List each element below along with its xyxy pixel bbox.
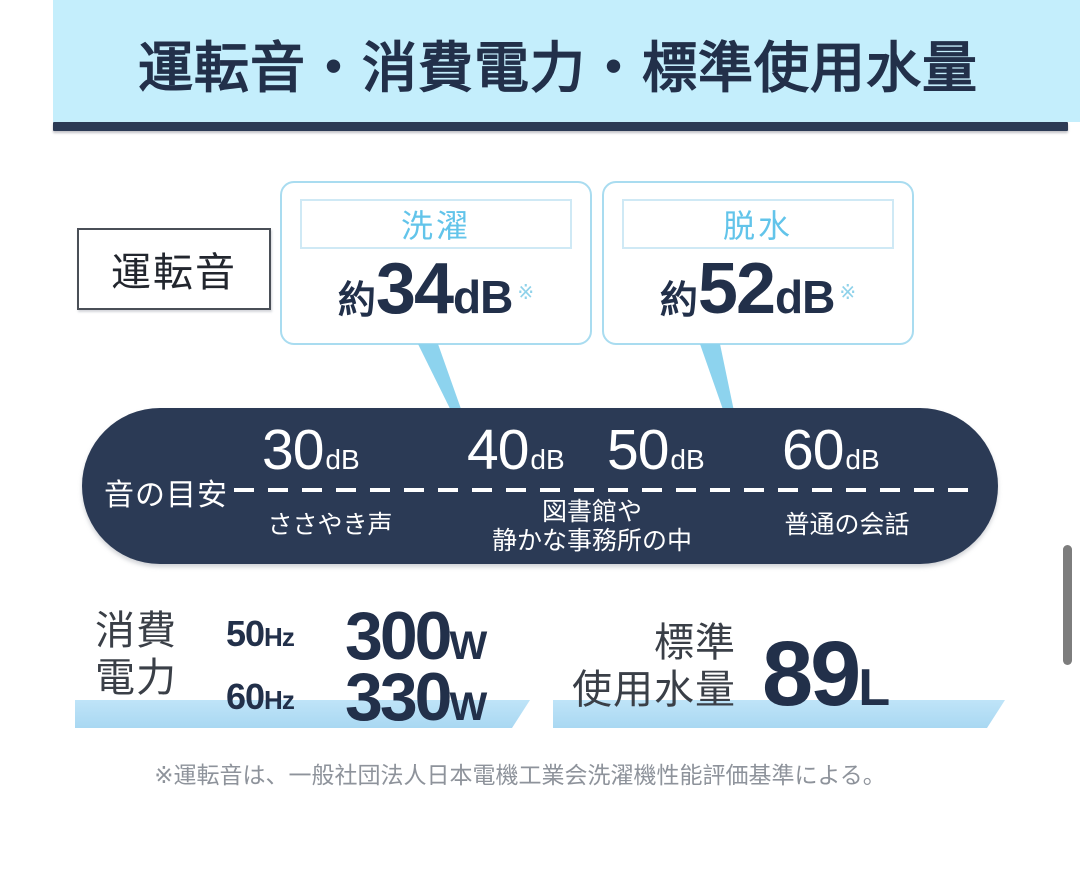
callout-spin: 脱水 約 52 dB ※ — [602, 181, 914, 345]
wash-asterisk-icon: ※ — [517, 280, 534, 305]
power-label: 消費 電力 — [95, 608, 177, 702]
scale-tick-50: 50 dB — [607, 422, 705, 479]
wash-db-number: 34 — [376, 253, 452, 325]
water-value-unit: L — [858, 659, 889, 717]
water-label: 標準 使用水量 — [572, 620, 736, 714]
scale-tick-30: 30 dB — [262, 422, 360, 479]
scale-tick-40-unit: dB — [530, 444, 564, 476]
sound-scale-pill: 音の目安 30 dB 40 dB 50 dB 60 dB ささやき声 図書館や … — [82, 408, 998, 564]
scale-tick-60: 60 dB — [782, 422, 880, 479]
power-label-line2: 電力 — [95, 655, 177, 702]
power-value-60hz-unit: W — [449, 685, 486, 729]
scale-tick-60-value: 60 — [782, 422, 843, 479]
power-freq-60hz: 60Hz — [226, 676, 294, 718]
scale-desc-conversation: 普通の会話 — [742, 511, 952, 540]
scale-tick-50-unit: dB — [670, 444, 704, 476]
infographic-page: 運転音・消費電力・標準使用水量 運転音 洗濯 約 34 dB ※ 脱水 約 52… — [0, 0, 1080, 881]
sound-scale-title: 音の目安 — [104, 470, 228, 514]
spin-db-unit: dB — [775, 270, 834, 324]
header-divider — [53, 122, 1068, 131]
scale-desc-library-line1: 図書館や — [452, 498, 732, 527]
scale-desc-whisper: ささやき声 — [230, 511, 430, 540]
water-value-number: 89 — [762, 623, 858, 725]
water-value: 89L — [762, 628, 889, 720]
callout-wash-mode: 洗濯 — [300, 199, 572, 249]
sound-scale-dashed-axis — [234, 488, 980, 492]
power-value-60hz: 330W — [345, 663, 486, 731]
scale-tick-60-unit: dB — [845, 444, 879, 476]
callout-spin-mode: 脱水 — [622, 199, 894, 249]
scrollbar-thumb[interactable] — [1063, 545, 1072, 665]
water-label-line2: 使用水量 — [572, 667, 736, 714]
page-title: 運転音・消費電力・標準使用水量 — [53, 22, 1063, 104]
power-freq-50hz: 50Hz — [226, 613, 294, 655]
callout-wash-value: 約 34 dB ※ — [282, 253, 590, 335]
scale-tick-40-value: 40 — [467, 422, 528, 479]
footnote-text: ※運転音は、一般社団法人日本電機工業会洗濯機性能評価基準による。 — [0, 756, 1040, 790]
spin-db-number: 52 — [698, 253, 774, 325]
water-label-line1: 標準 — [572, 620, 736, 667]
power-freq-50hz-unit: Hz — [264, 622, 294, 652]
power-freq-60hz-number: 60 — [226, 676, 264, 717]
spin-asterisk-icon: ※ — [839, 280, 856, 305]
power-label-line1: 消費 — [95, 608, 177, 655]
power-value-50hz-unit: W — [449, 624, 486, 668]
wash-approx-prefix: 約 — [338, 269, 375, 324]
wash-db-unit: dB — [453, 270, 512, 324]
callout-spin-value: 約 52 dB ※ — [604, 253, 912, 335]
power-value-60hz-number: 330 — [345, 659, 449, 735]
scale-tick-40: 40 dB — [467, 422, 565, 479]
power-freq-50hz-number: 50 — [226, 613, 264, 654]
operating-sound-label: 運転音 — [77, 228, 271, 310]
scale-tick-30-value: 30 — [262, 422, 323, 479]
scale-desc-library: 図書館や 静かな事務所の中 — [452, 498, 732, 556]
scale-tick-50-value: 50 — [607, 422, 668, 479]
spin-approx-prefix: 約 — [660, 269, 697, 324]
callout-wash: 洗濯 約 34 dB ※ — [280, 181, 592, 345]
scale-desc-library-line2: 静かな事務所の中 — [452, 527, 732, 556]
scale-tick-30-unit: dB — [325, 444, 359, 476]
power-freq-60hz-unit: Hz — [264, 685, 294, 715]
